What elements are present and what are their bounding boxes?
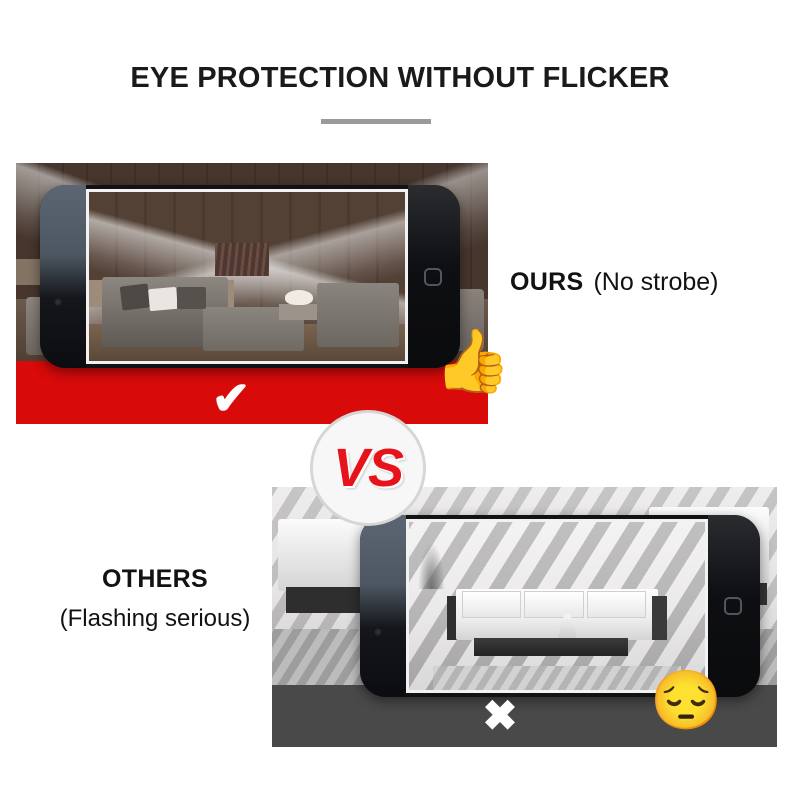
- screen-cushion-1: [462, 591, 521, 618]
- cross-mark-icon: ✖: [465, 692, 535, 740]
- phone-home-button-icon: [724, 597, 742, 615]
- screen-side-table: [279, 304, 317, 321]
- screen-pillow-dark-2: [177, 287, 205, 309]
- screen-cushion-2: [524, 591, 583, 618]
- vs-badge: VS: [310, 410, 426, 526]
- phone-camera-icon: [54, 298, 62, 306]
- room-table-left: [286, 587, 360, 613]
- label-ours: OURS(No strobe): [510, 268, 718, 297]
- label-ours-strong: OURS: [510, 268, 583, 296]
- screen-pillow-dark-1: [119, 283, 150, 310]
- screen-plant: [418, 542, 445, 589]
- phone-bezel-left: [360, 515, 406, 697]
- thumbs-up-emoji: 👍: [434, 331, 511, 393]
- check-mark-icon: ✔: [195, 374, 267, 422]
- phone-device-ours: [40, 185, 460, 368]
- sad-face-emoji: 😔: [650, 672, 722, 730]
- label-others-soft: (Flashing serious): [30, 605, 280, 633]
- page-title: EYE PROTECTION WITHOUT FLICKER: [0, 62, 800, 95]
- label-others-strong: OTHERS: [30, 565, 280, 594]
- screen-wall-art: [215, 243, 269, 277]
- screen-coffee-table: [474, 638, 628, 656]
- label-others: OTHERS (Flashing serious): [30, 565, 280, 633]
- screen-cushion-3: [587, 591, 646, 618]
- label-ours-soft: (No strobe): [593, 268, 718, 296]
- phone-screen-others: [406, 519, 708, 693]
- screen-rug: [433, 666, 682, 690]
- title-divider: [321, 119, 431, 124]
- promo-graphic-root: EYE PROTECTION WITHOUT FLICKER: [0, 0, 800, 800]
- screen-sofa-arm-right: [652, 596, 667, 640]
- phone-screen-ours: [86, 189, 408, 364]
- phone-bezel-left: [40, 185, 86, 368]
- screen-sofa-side: [317, 283, 399, 347]
- phone-camera-icon: [374, 628, 382, 636]
- vs-badge-label: VS: [333, 441, 403, 495]
- screen-table-lamp: [285, 290, 313, 305]
- screen-pillow-white: [148, 287, 178, 311]
- phone-home-button-icon: [424, 268, 442, 286]
